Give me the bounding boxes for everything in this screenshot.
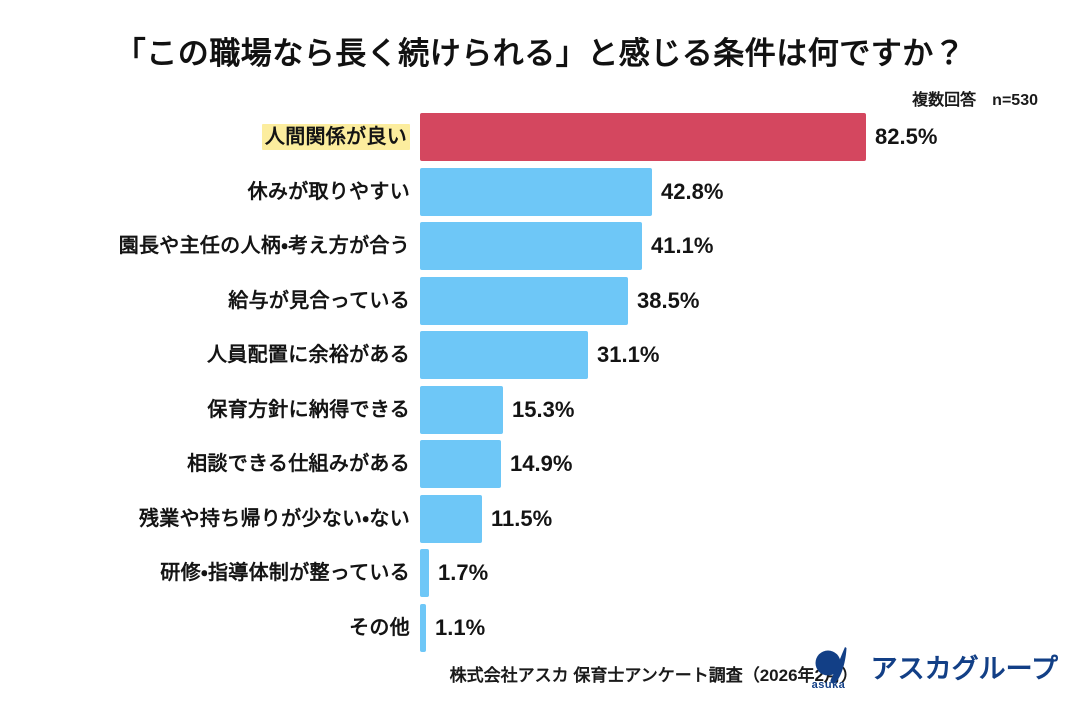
bar-row: 人間関係が良い82.5% [0,113,1080,161]
bar-category-label: 給与が見合っている [228,277,410,325]
bar-row: 相談できる仕組みがある14.9% [0,440,1080,488]
bar-row: 研修・指導体制が整っている1.7% [0,549,1080,597]
bar-category-label: 園長や主任の人柄・考え方が合う [119,222,410,270]
bar-segment [420,277,628,325]
bar-row: 保育方針に納得できる15.3% [0,386,1080,434]
bar-category-label: 研修・指導体制が整っている [160,549,410,597]
bar-value-label: 31.1% [597,331,659,379]
bar-segment [420,386,503,434]
bar-value-label: 11.5% [491,495,552,543]
bar-row: 給与が見合っている38.5% [0,277,1080,325]
bar-category-label-text: 人間関係が良い [262,124,410,150]
bar-chart-plot-area: 人間関係が良い82.5%休みが取りやすい42.8%園長や主任の人柄・考え方が合う… [0,113,1080,638]
bar-segment [420,168,652,216]
bar-segment [420,331,588,379]
bar-category-label: 人員配置に余裕がある [207,331,410,379]
asuka-group-wordmark: アスカグループ [871,656,1058,683]
bar-category-label: 相談できる仕組みがある [187,440,410,488]
asuka-group-logo: asuka アスカグループ [811,646,1058,692]
bar-value-label: 82.5% [875,113,937,161]
footer-source-text: 株式会社アスカ 保育士アンケート調査（2026年2月） [450,661,858,686]
bar-segment [420,604,426,652]
bar-segment [420,222,642,270]
bar-category-label: その他 [349,604,410,652]
bar-category-label-text: 保育方針に納得できる [207,399,410,421]
bar-category-label: 残業や持ち帰りが少ない・ない [139,495,410,543]
bar-row: 園長や主任の人柄・考え方が合う41.1% [0,222,1080,270]
bar-value-label: 38.5% [637,277,699,325]
bar-value-label: 42.8% [661,168,723,216]
bar-category-label-text: 給与が見合っている [228,290,410,312]
asuka-logo-mark-icon: asuka [811,646,867,692]
bar-category-label-text: 研修・指導体制が整っている [160,562,410,584]
bar-category-label-text: 休みが取りやすい [248,181,410,203]
bar-value-label: 1.7% [438,549,488,597]
bar-category-label-text: 人員配置に余裕がある [207,344,410,366]
bar-category-label: 保育方針に納得できる [207,386,410,434]
bar-category-label-text: 相談できる仕組みがある [187,453,410,475]
bar-category-label: 休みが取りやすい [248,168,410,216]
bar-category-label: 人間関係が良い [262,113,410,161]
sample-size-note: 複数回答 n=530 [912,86,1038,110]
bar-row: 休みが取りやすい42.8% [0,168,1080,216]
bar-value-label: 1.1% [435,604,485,652]
asuka-mark-text: asuka [812,679,846,691]
bar-row: 残業や持ち帰りが少ない・ない11.5% [0,495,1080,543]
chart-title: 「この職場なら長く続けられる」と感じる条件は何ですか？ [0,28,1080,73]
bar-segment [420,113,866,161]
bar-value-label: 14.9% [510,440,572,488]
bar-row: 人員配置に余裕がある31.1% [0,331,1080,379]
bar-value-label: 41.1% [651,222,713,270]
bar-segment [420,440,501,488]
bar-category-label-text: 園長や主任の人柄・考え方が合う [119,235,410,257]
bar-row: その他1.1% [0,604,1080,652]
bar-value-label: 15.3% [512,386,574,434]
bar-category-label-text: その他 [349,617,410,639]
bar-segment [420,549,429,597]
bar-category-label-text: 残業や持ち帰りが少ない・ない [139,508,410,530]
chart-footer: 株式会社アスカ 保育士アンケート調査（2026年2月） asuka アスカグルー… [0,646,1080,694]
bar-segment [420,495,482,543]
